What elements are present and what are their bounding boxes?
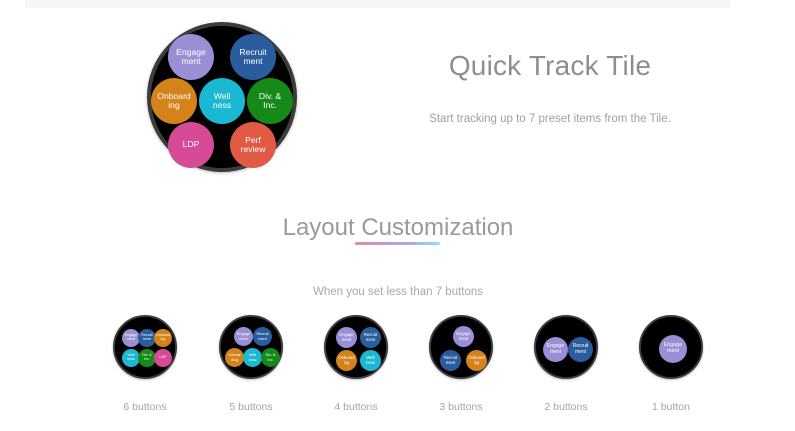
watch-face: Engage ment [641,317,701,377]
variant-watch: Engage ment [639,315,703,379]
tile-button-label: Engage ment [456,332,470,341]
section-subtitle: When you set less than 7 buttons [248,286,548,298]
tile-button-label: Div. & Inc. [259,92,281,111]
tile-button-recruitment[interactable]: Recruit ment [253,327,272,346]
tile-button-label: Well ness [248,353,256,361]
tile-button-recruitment[interactable]: Recruit ment [440,350,461,371]
tile-button-label: Engage ment [176,48,206,67]
page-title: Quick Track Tile [400,50,700,82]
tile-button-onboarding[interactable]: Onboard ing [466,350,487,371]
variant-caption: 1 button [611,401,731,413]
tile-button-recruitment[interactable]: Recruit ment [360,327,381,348]
tile-button-label: Engage ment [339,333,353,342]
variant-caption: 4 buttons [296,401,416,413]
tile-button-label: LDP [160,356,167,360]
tile-button-engagement[interactable]: Engage ment [234,327,253,346]
tile-button-perf-review[interactable]: Perf review [230,122,276,168]
watch-face: Engage mentRecruit mentOnboard ingWell n… [115,317,175,377]
tile-button-label: Perf review [241,136,266,155]
tile-button-diversity[interactable]: Div. & Inc. [261,348,280,367]
variant-watch: Engage mentRecruit ment [534,315,598,379]
watch-face: Engage mentRecruit mentOnboard ingWell n… [326,317,386,377]
tile-button-label: Onboard ing [468,356,484,365]
watch-face: Engage mentRecruit mentOnboard ing [431,317,491,377]
tile-button-onboarding[interactable]: Onboard ing [336,350,357,371]
tile-button-recruitment[interactable]: Recruit ment [568,337,593,362]
variant-watch: Engage mentRecruit mentOnboar dingWell n… [219,315,283,379]
tile-button-label: Recruit ment [364,333,377,342]
tile-button-label: Well ness [213,92,231,111]
variant-watch: Engage mentRecruit mentOnboard ing [429,315,493,379]
variant-caption: 3 buttons [401,401,521,413]
variant-watch: Engage mentRecruit mentOnboard ingWell n… [113,315,177,379]
tile-button-label: Recruit ment [141,334,152,342]
section-title: Layout Customization [198,214,598,242]
watch-face: Engage mentRecruit ment [536,317,596,377]
page-subtitle: Start tracking up to 7 preset items from… [360,113,740,125]
variant-caption: 6 buttons [85,401,205,413]
tile-button-label: Recruit ment [256,332,268,340]
tile-button-onboarding[interactable]: Onboard ing [151,78,197,124]
tile-button-ldp[interactable]: LDP [154,349,172,367]
tile-button-onboarding[interactable]: Onboard ing [154,329,172,347]
variant-caption: 5 buttons [191,401,311,413]
quick-track-tile-watch: Engage mentRecruit mentOnboard ingWell n… [147,22,297,172]
tile-button-label: Engage ment [664,343,683,355]
tile-button-label: Onboar ding [228,353,241,361]
tile-button-wellness[interactable]: Well ness [199,78,245,124]
layout-variants: Engage mentRecruit mentOnboard ingWell n… [0,315,795,425]
watch-face: Engage mentRecruit mentOnboar dingWell n… [221,317,281,377]
top-band [25,0,730,8]
tile-button-diversity[interactable]: Div. & Inc. [247,78,293,124]
tile-button-label: LDP [183,140,200,149]
tile-button-label: Div. & Inc. [142,354,151,362]
variant-caption: 2 buttons [506,401,626,413]
tile-button-label: Recruit ment [573,344,589,355]
tile-button-label: Well ness [127,354,135,362]
variant-watch: Engage mentRecruit mentOnboard ingWell n… [324,315,388,379]
tile-button-label: Recruit ment [239,48,266,67]
tile-button-label: Div. & Inc. [266,353,276,361]
tile-button-engagement[interactable]: Engage ment [453,326,474,347]
tile-button-engagement[interactable]: Engage ment [543,337,568,362]
tile-button-label: Well ness [366,356,375,365]
tile-button-engagement[interactable]: Engage ment [336,327,357,348]
tile-button-wellness[interactable]: Well ness [360,350,381,371]
tile-button-label: Recruit ment [444,356,457,365]
section-underline [355,242,440,245]
tile-button-engagement[interactable]: Engage ment [659,335,687,363]
tile-button-label: Onboard ing [338,356,354,365]
tile-button-label: Engage ment [547,344,564,355]
watch-face: Engage mentRecruit mentOnboard ingWell n… [151,26,293,168]
tile-button-label: Engage ment [125,334,137,342]
tile-button-onboarding[interactable]: Onboar ding [225,348,244,367]
tile-button-label: Onboard ing [156,334,170,342]
tile-button-label: Engage ment [237,332,250,340]
tile-button-ldp[interactable]: LDP [168,122,214,168]
tile-button-recruitment[interactable]: Recruit ment [230,34,276,80]
tile-button-wellness[interactable]: Well ness [243,348,262,367]
tile-button-label: Onboard ing [157,92,190,111]
tile-button-engagement[interactable]: Engage ment [168,34,214,80]
